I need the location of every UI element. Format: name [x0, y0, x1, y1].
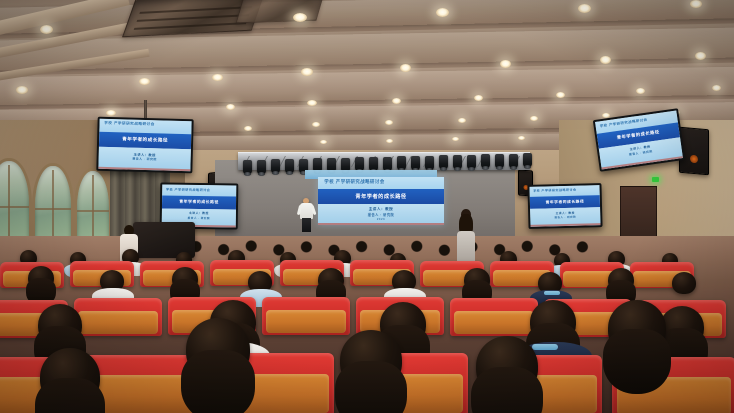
ceiling-downlight — [500, 60, 511, 68]
monitor-right-lower-sub2: 报告人 · 研究院 — [530, 215, 600, 221]
stage-light — [453, 155, 462, 169]
stage-light — [243, 160, 252, 174]
slide-header-band: 学校 产学研研究战略研讨会 — [318, 177, 444, 189]
monitor-left-lower-header: 学校 产学研研究战略研讨会 — [166, 186, 236, 192]
stage-light — [383, 157, 392, 171]
ceiling-downlight — [40, 25, 53, 34]
slide-main-title: 青年学者的成长路径 — [318, 193, 444, 200]
ceiling-downlight — [436, 8, 449, 17]
audience-head — [318, 268, 344, 292]
distant-audience — [150, 228, 610, 258]
ceiling-downlight — [636, 88, 645, 94]
stage-light — [481, 154, 490, 168]
monitor-left-header: 学校 产学研研究战略研讨会 — [104, 121, 192, 128]
stage-light — [467, 155, 476, 169]
seat — [450, 298, 538, 336]
ceiling-downlight — [400, 64, 411, 72]
ceiling-downlight — [690, 0, 702, 8]
ceiling-downlight — [556, 92, 565, 98]
audience-head — [672, 272, 696, 294]
overhead-monitor-left: 学校 产学研研究战略研讨会 青年学者的成长路径 主讲人：教授 报告人 · 研究院 — [96, 117, 193, 173]
ceiling-downlight — [244, 126, 252, 131]
stage-light — [523, 153, 532, 167]
ceiling-downlight — [474, 95, 483, 101]
ceiling-downlight — [712, 85, 721, 91]
audience-head-foreground — [476, 336, 538, 396]
stage-light — [425, 156, 434, 170]
ceiling-downlight — [695, 52, 706, 60]
ceiling-downlight — [452, 137, 459, 141]
audience-head — [608, 268, 634, 292]
slide-header-text: 学校 产学研研究战略研讨会 — [324, 179, 444, 185]
stage-light — [397, 156, 406, 170]
ceiling-downlight — [385, 120, 393, 125]
monitor-right-lower-header: 学校 产学研研究战略研讨会 — [533, 187, 600, 193]
monitor-right-lower-title: 青年学者的成长路径 — [530, 199, 600, 206]
ceiling-downlight — [600, 56, 611, 64]
ceiling-downlight — [392, 98, 401, 104]
ceiling-downlight — [518, 136, 525, 140]
ceiling-downlight — [530, 116, 538, 121]
monitor-left-lower-sub2: 报告人 · 研究院 — [162, 215, 236, 220]
stage-light — [509, 154, 518, 168]
overhead-monitor-right-lower: 学校 产学研研究战略研讨会 青年学者的成长路径 主讲人：教授 报告人 · 研究院 — [527, 183, 602, 229]
ceiling-downlight — [16, 86, 28, 94]
audience-head-foreground — [40, 348, 100, 406]
uniform-collar — [532, 344, 558, 350]
slide-footer-text: 2023 — [318, 217, 444, 221]
ceiling-downlight — [226, 104, 235, 110]
audience-head-foreground — [608, 300, 666, 356]
auditorium-photo: 学校 产学研研究战略研讨会 青年学者的成长路径 主讲人：教授 报告人 · 研究院… — [0, 0, 734, 413]
audience-head-foreground — [340, 330, 402, 390]
audience-head — [530, 300, 576, 344]
stage-light — [495, 154, 504, 168]
stage-light — [257, 160, 266, 174]
seat — [74, 298, 162, 336]
standing-attendee-right — [455, 209, 477, 265]
ceiling-downlight — [139, 78, 150, 85]
ceiling-downlight — [312, 122, 320, 127]
monitor-left-title: 青年学者的成长路径 — [99, 136, 191, 144]
audience-head — [38, 304, 82, 346]
stage-light — [355, 157, 364, 171]
ceiling-downlight — [307, 100, 317, 106]
ceiling-downlight — [212, 74, 223, 81]
uniform-collar — [544, 291, 560, 295]
presenter — [300, 198, 313, 232]
stage-light — [411, 156, 420, 170]
audience-head-foreground — [186, 318, 250, 380]
audience-head — [172, 267, 198, 291]
stage-light — [439, 155, 448, 169]
stage-light — [285, 159, 294, 173]
slide-title-band: 青年学者的成长路径 — [318, 189, 444, 203]
ceiling-downlight — [320, 140, 327, 144]
stage-light — [271, 159, 280, 173]
ceiling-downlight — [458, 118, 466, 123]
stage-light — [369, 157, 378, 171]
ceiling-downlight — [293, 13, 307, 22]
audience-head — [28, 266, 54, 290]
ceiling-downlight — [386, 139, 393, 143]
ceiling-downlight — [301, 68, 313, 76]
ceiling-downlight — [578, 4, 591, 13]
slide-footer-area: 主讲人：教授 报告人 · 研究院 2023 — [318, 204, 444, 225]
slide-accent-bar — [318, 223, 444, 225]
ceiling-air-conditioner-secondary — [236, 0, 325, 23]
audience-head — [464, 268, 490, 292]
main-projection-screen: 学校 产学研研究战略研讨会 青年学者的成长路径 主讲人：教授 报告人 · 研究院… — [318, 177, 444, 225]
seat — [262, 297, 350, 335]
ceiling-downlight — [106, 110, 116, 116]
exit-indicator-light — [652, 177, 659, 182]
monitor-left-lower-title: 青年学者的成长路径 — [162, 199, 236, 206]
slide-content: 学校 产学研研究战略研讨会 青年学者的成长路径 主讲人：教授 报告人 · 研究院… — [318, 177, 444, 225]
